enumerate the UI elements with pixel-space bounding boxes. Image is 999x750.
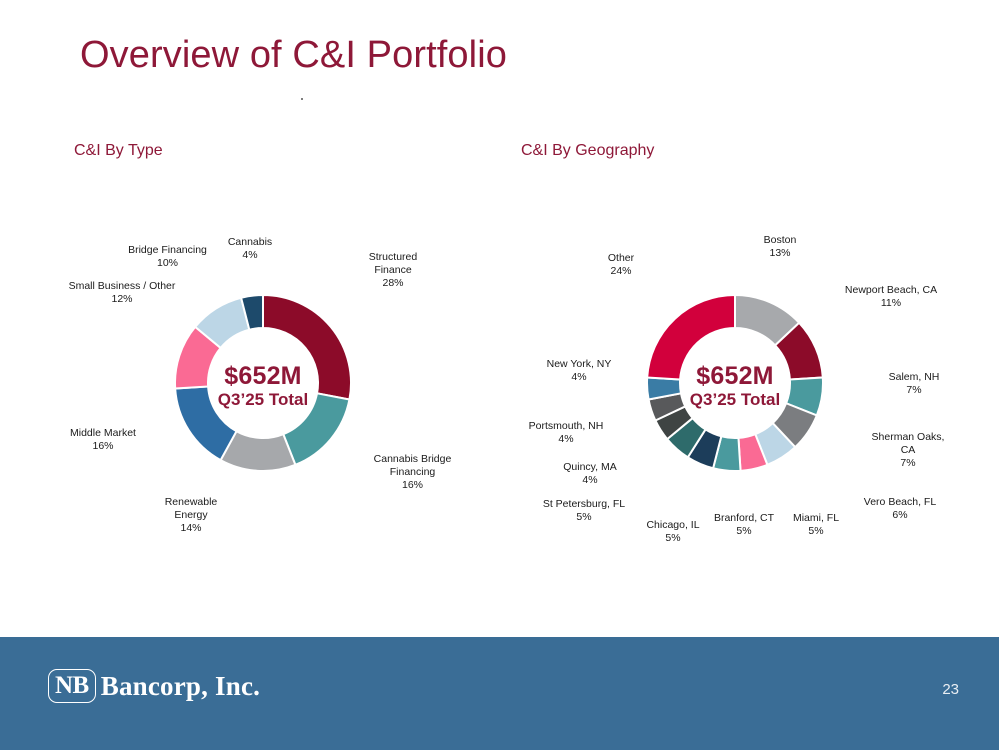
chart-title-by-geography: C&I By Geography <box>521 142 654 160</box>
slice-label-branford-ct: Branford, CT 5% <box>701 512 787 538</box>
slide-canvas: Overview of C&I Portfolio C&I By Type C&… <box>0 0 999 750</box>
slice-label-renewable-energy: Renewable Energy 14% <box>145 496 237 534</box>
logo-wordmark: Bancorp, Inc. <box>101 673 260 700</box>
chart-title-by-type: C&I By Type <box>74 142 163 160</box>
slice-label-miami-fl: Miami, FL 5% <box>781 512 851 538</box>
slice-label-middle-market: Middle Market 16% <box>48 427 158 453</box>
center-total-amount: $652M <box>655 362 815 390</box>
slice-label-boston: Boston 13% <box>738 234 822 260</box>
slice-label-chicago-il: Chicago, IL 5% <box>635 519 711 545</box>
slice-label-new-york-ny: New York, NY 4% <box>527 358 631 384</box>
slice-label-salem-nh: Salem, NH 7% <box>874 371 954 397</box>
slice-label-st-petersburg-fl: St Petersburg, FL 5% <box>531 498 637 524</box>
slice-label-portsmouth-nh: Portsmouth, NH 4% <box>511 420 621 446</box>
center-total-amount: $652M <box>183 362 343 390</box>
slice-label-small-business-other: Small Business / Other 12% <box>52 280 192 306</box>
slice-label-cannabis: Cannabis 4% <box>215 236 285 262</box>
slice-label-bridge-financing: Bridge Financing 10% <box>110 244 225 270</box>
page-title: Overview of C&I Portfolio <box>80 34 507 77</box>
slice-label-vero-beach-fl: Vero Beach, FL 6% <box>850 496 950 522</box>
slice-label-sherman-oaks-ca: Sherman Oaks, CA 7% <box>862 431 954 469</box>
center-total-period: Q3’25 Total <box>183 390 343 409</box>
center-total-period: Q3’25 Total <box>655 390 815 409</box>
donut-center-label-by-geography: $652M Q3’25 Total <box>655 362 815 409</box>
donut-center-label-by-type: $652M Q3’25 Total <box>183 362 343 409</box>
slice-label-cannabis-bridge-financing: Cannabis Bridge Financing 16% <box>355 453 470 491</box>
logo-mark: NB <box>48 669 96 703</box>
slice-label-other: Other 24% <box>586 252 656 278</box>
company-logo: NB Bancorp, Inc. <box>48 669 260 703</box>
slice-label-structured-finance: Structured Finance 28% <box>338 251 448 289</box>
stray-dot <box>301 98 303 100</box>
page-number: 23 <box>942 681 959 698</box>
slice-label-newport-beach-ca: Newport Beach, CA 11% <box>826 284 956 310</box>
slice-label-quincy-ma: Quincy, MA 4% <box>548 461 632 487</box>
